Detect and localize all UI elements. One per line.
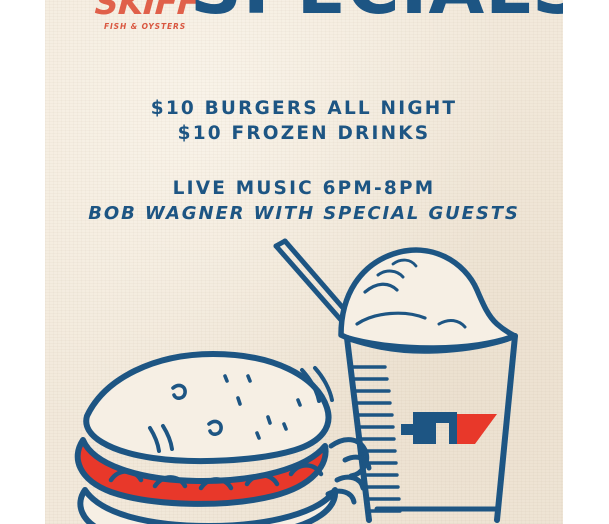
specials-copy: $10 BURGERS ALL NIGHT $10 FROZEN DRINKS …: [45, 96, 563, 226]
food-special-line: $10 FROZEN DRINKS: [45, 121, 563, 146]
poster-artwork: SKIFF FISH & OYSTERS SPECIALS $10 BURGER…: [45, 0, 563, 524]
skiff-logo: SKIFF FISH & OYSTERS: [95, 0, 195, 31]
poster-header: SKIFF FISH & OYSTERS SPECIALS: [45, 0, 563, 52]
brand-name: SKIFF: [94, 0, 196, 19]
illustration-svg: [45, 228, 563, 524]
frozen-drink-illustration: [341, 250, 515, 520]
poster-page: SKIFF FISH & OYSTERS SPECIALS $10 BURGER…: [0, 0, 609, 524]
live-music-line: LIVE MUSIC 6PM-8PM: [45, 176, 563, 201]
boat-logo-on-cup: [401, 412, 497, 444]
music-block: LIVE MUSIC 6PM-8PM BOB WAGNER WITH SPECI…: [45, 176, 563, 226]
food-specials-block: $10 BURGERS ALL NIGHT $10 FROZEN DRINKS: [45, 96, 563, 146]
food-illustration: [45, 228, 563, 524]
page-title: SPECIALS: [190, 0, 563, 24]
burger-top-bun: [86, 354, 328, 461]
food-special-line: $10 BURGERS ALL NIGHT: [45, 96, 563, 121]
performer-line: BOB WAGNER WITH SPECIAL GUESTS: [45, 201, 563, 226]
whipped-top: [341, 250, 515, 351]
burger-illustration: [78, 354, 369, 524]
brand-tagline: FISH & OYSTERS: [95, 23, 195, 31]
